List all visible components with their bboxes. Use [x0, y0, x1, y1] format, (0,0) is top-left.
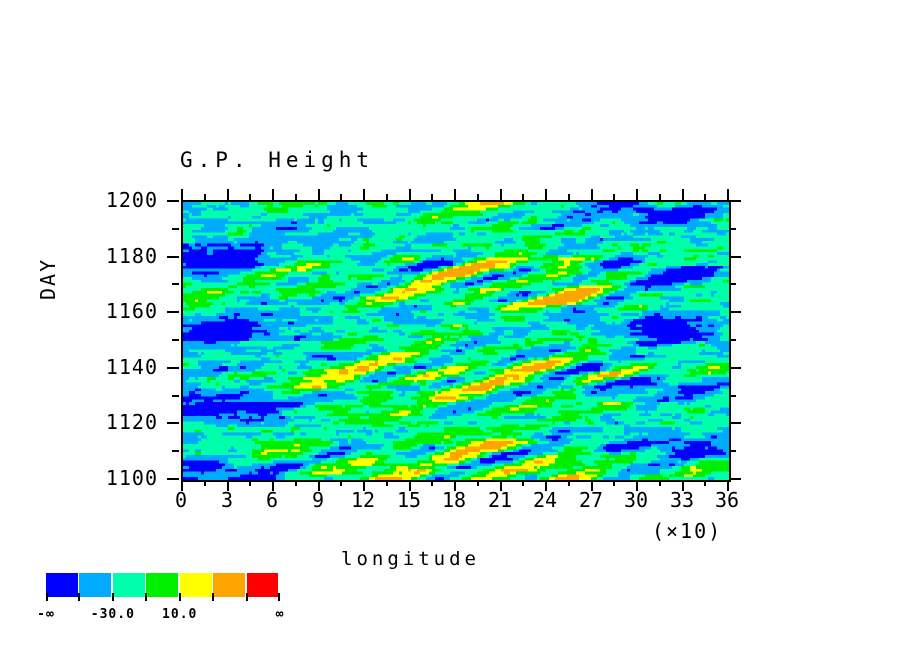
y-major-tick — [167, 478, 179, 480]
x-major-tick-top — [318, 189, 320, 200]
x-tick-label: 36 — [699, 488, 755, 512]
colorbar-tick — [78, 593, 80, 601]
colorbar — [46, 573, 280, 597]
y-minor-tick — [172, 395, 179, 397]
x-minor-tick-top — [704, 194, 706, 200]
y-major-tick-right — [729, 256, 741, 258]
x-minor-tick-top — [386, 194, 388, 200]
x-major-tick-top — [500, 189, 502, 200]
y-minor-tick-right — [729, 450, 736, 452]
x-minor-tick — [613, 480, 615, 486]
x-minor-tick-top — [522, 194, 524, 200]
x-minor-tick — [249, 480, 251, 486]
x-axis-multiplier-label: (×10) — [652, 519, 722, 543]
colorbar-band — [213, 573, 245, 597]
x-major-tick-top — [181, 189, 183, 200]
x-major-tick-top — [682, 189, 684, 200]
x-minor-tick — [704, 480, 706, 486]
x-minor-tick — [386, 480, 388, 486]
chart-title: G.P. Height — [180, 148, 374, 172]
x-minor-tick-top — [613, 194, 615, 200]
y-tick-label: 1180 — [72, 244, 158, 268]
y-major-tick-right — [729, 422, 741, 424]
colorbar-end-tick — [278, 593, 280, 601]
colorbar-band — [46, 573, 78, 597]
x-major-tick-top — [409, 189, 411, 200]
y-major-tick-right — [729, 478, 741, 480]
colorbar-band — [79, 573, 111, 597]
x-axis-title: longitude — [341, 548, 480, 570]
y-major-tick — [167, 256, 179, 258]
x-major-tick-top — [636, 189, 638, 200]
y-minor-tick-right — [729, 228, 736, 230]
y-tick-label: 1120 — [72, 410, 158, 434]
colorbar-band — [146, 573, 178, 597]
y-tick-label: 1100 — [72, 466, 158, 490]
x-minor-tick-top — [249, 194, 251, 200]
x-major-tick-top — [227, 189, 229, 200]
x-minor-tick — [204, 480, 206, 486]
y-major-tick-right — [729, 311, 741, 313]
colorbar-end-tick — [46, 593, 48, 601]
y-tick-label: 1140 — [72, 355, 158, 379]
x-major-tick-top — [363, 189, 365, 200]
x-minor-tick-top — [295, 194, 297, 200]
x-major-tick-top — [591, 189, 593, 200]
x-minor-tick-top — [340, 194, 342, 200]
heatmap-canvas — [183, 202, 729, 480]
x-major-tick-top — [727, 189, 729, 200]
x-minor-tick-top — [568, 194, 570, 200]
y-tick-label: 1160 — [72, 299, 158, 323]
colorbar-tick — [246, 593, 248, 601]
colorbar-tick — [112, 593, 114, 601]
colorbar-label: ∞ — [245, 607, 315, 622]
y-minor-tick — [172, 339, 179, 341]
y-minor-tick-right — [729, 395, 736, 397]
y-axis-title: DAY — [36, 258, 60, 300]
x-minor-tick-top — [204, 194, 206, 200]
colorbar-tick — [212, 593, 214, 601]
x-minor-tick-top — [477, 194, 479, 200]
colorbar-label: -30.0 — [78, 607, 148, 622]
x-major-tick-top — [454, 189, 456, 200]
x-minor-tick — [431, 480, 433, 486]
y-tick-label: 1200 — [72, 188, 158, 212]
colorbar-label: 10.0 — [145, 607, 215, 622]
x-minor-tick — [568, 480, 570, 486]
x-major-tick-top — [545, 189, 547, 200]
x-major-tick-top — [272, 189, 274, 200]
y-major-tick — [167, 311, 179, 313]
colorbar-band — [247, 573, 279, 597]
y-major-tick — [167, 422, 179, 424]
y-minor-tick-right — [729, 283, 736, 285]
y-major-tick — [167, 367, 179, 369]
y-minor-tick — [172, 228, 179, 230]
y-minor-tick — [172, 283, 179, 285]
x-minor-tick — [295, 480, 297, 486]
y-minor-tick-right — [729, 339, 736, 341]
x-minor-tick — [659, 480, 661, 486]
y-major-tick-right — [729, 200, 741, 202]
colorbar-label: -∞ — [11, 607, 81, 622]
y-major-tick-right — [729, 367, 741, 369]
colorbar-tick — [179, 593, 181, 601]
x-minor-tick — [522, 480, 524, 486]
y-minor-tick — [172, 450, 179, 452]
x-minor-tick — [340, 480, 342, 486]
colorbar-band — [113, 573, 145, 597]
colorbar-tick — [145, 593, 147, 601]
y-major-tick — [167, 200, 179, 202]
chart-root: G.P. Height 0369121518212427303336 11001… — [0, 0, 904, 654]
x-minor-tick — [477, 480, 479, 486]
colorbar-band — [180, 573, 212, 597]
x-minor-tick-top — [431, 194, 433, 200]
heatmap-plot-area — [181, 200, 731, 482]
x-minor-tick-top — [659, 194, 661, 200]
